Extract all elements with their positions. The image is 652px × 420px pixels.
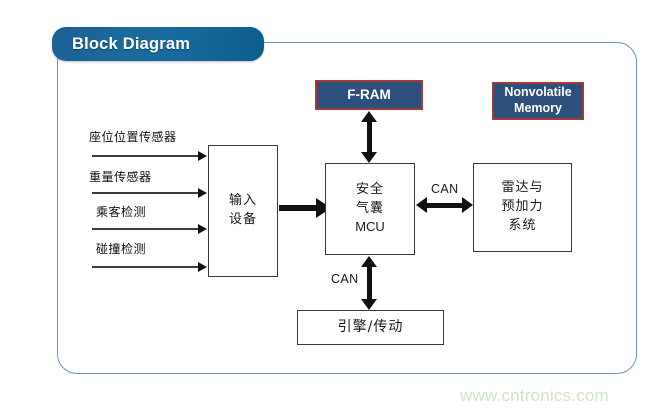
signal-label-seat-position-sensor: 座位位置传感器: [89, 128, 177, 145]
signal-arrow-weight-sensor: [92, 192, 199, 194]
input-devices-label-line2: 设备: [229, 211, 257, 230]
radar-label-line1: 雷达与: [501, 179, 543, 198]
panel-title-tab: Block Diagram: [52, 27, 264, 61]
signal-label-passenger-detection: 乘客检测: [96, 203, 146, 220]
fram-block: F-RAM: [315, 80, 423, 110]
fram-label: F-RAM: [347, 87, 391, 104]
airbag-mcu-label-line1: 安全: [356, 181, 384, 200]
signal-label-weight-sensor: 重量传感器: [89, 168, 152, 185]
nonvolatile-memory-label-line1: Nonvolatile: [504, 85, 571, 101]
panel-title-text: Block Diagram: [52, 35, 190, 54]
signal-label-collision-detection: 碰撞检测: [96, 240, 146, 257]
radar-label-line2: 预加力: [501, 198, 543, 217]
radar-label-line3: 系统: [508, 217, 536, 236]
block-diagram-figure: Block Diagram F-RAM Nonvolatile Memory 座…: [0, 0, 652, 420]
mcu-to-engine-arrow: [367, 266, 372, 300]
nonvolatile-memory-label-line2: Memory: [514, 101, 562, 117]
input-to-mcu-arrow: [279, 205, 317, 211]
input-devices-block: 输入 设备: [208, 145, 278, 277]
radar-pretension-block: 雷达与 预加力 系统: [473, 163, 572, 252]
engine-transmission-block: 引擎/传动: [297, 310, 444, 345]
site-watermark: www.cntronics.com: [460, 386, 609, 406]
can-label-engine: CAN: [331, 272, 359, 286]
airbag-mcu-block: 安全 气囊 MCU: [325, 163, 415, 255]
can-label-radar: CAN: [431, 182, 459, 196]
engine-label: 引擎/传动: [338, 317, 404, 337]
mcu-to-radar-arrow: [426, 203, 463, 208]
airbag-mcu-label-line3: MCU: [355, 218, 385, 237]
nonvolatile-memory-block: Nonvolatile Memory: [492, 82, 584, 120]
fram-to-mcu-arrow: [367, 121, 372, 153]
signal-arrow-seat-position-sensor: [92, 155, 199, 157]
input-devices-label-line1: 输入: [229, 192, 257, 211]
signal-arrow-passenger-detection: [92, 228, 199, 230]
signal-arrow-collision-detection: [92, 266, 199, 268]
airbag-mcu-label-line2: 气囊: [356, 200, 384, 219]
